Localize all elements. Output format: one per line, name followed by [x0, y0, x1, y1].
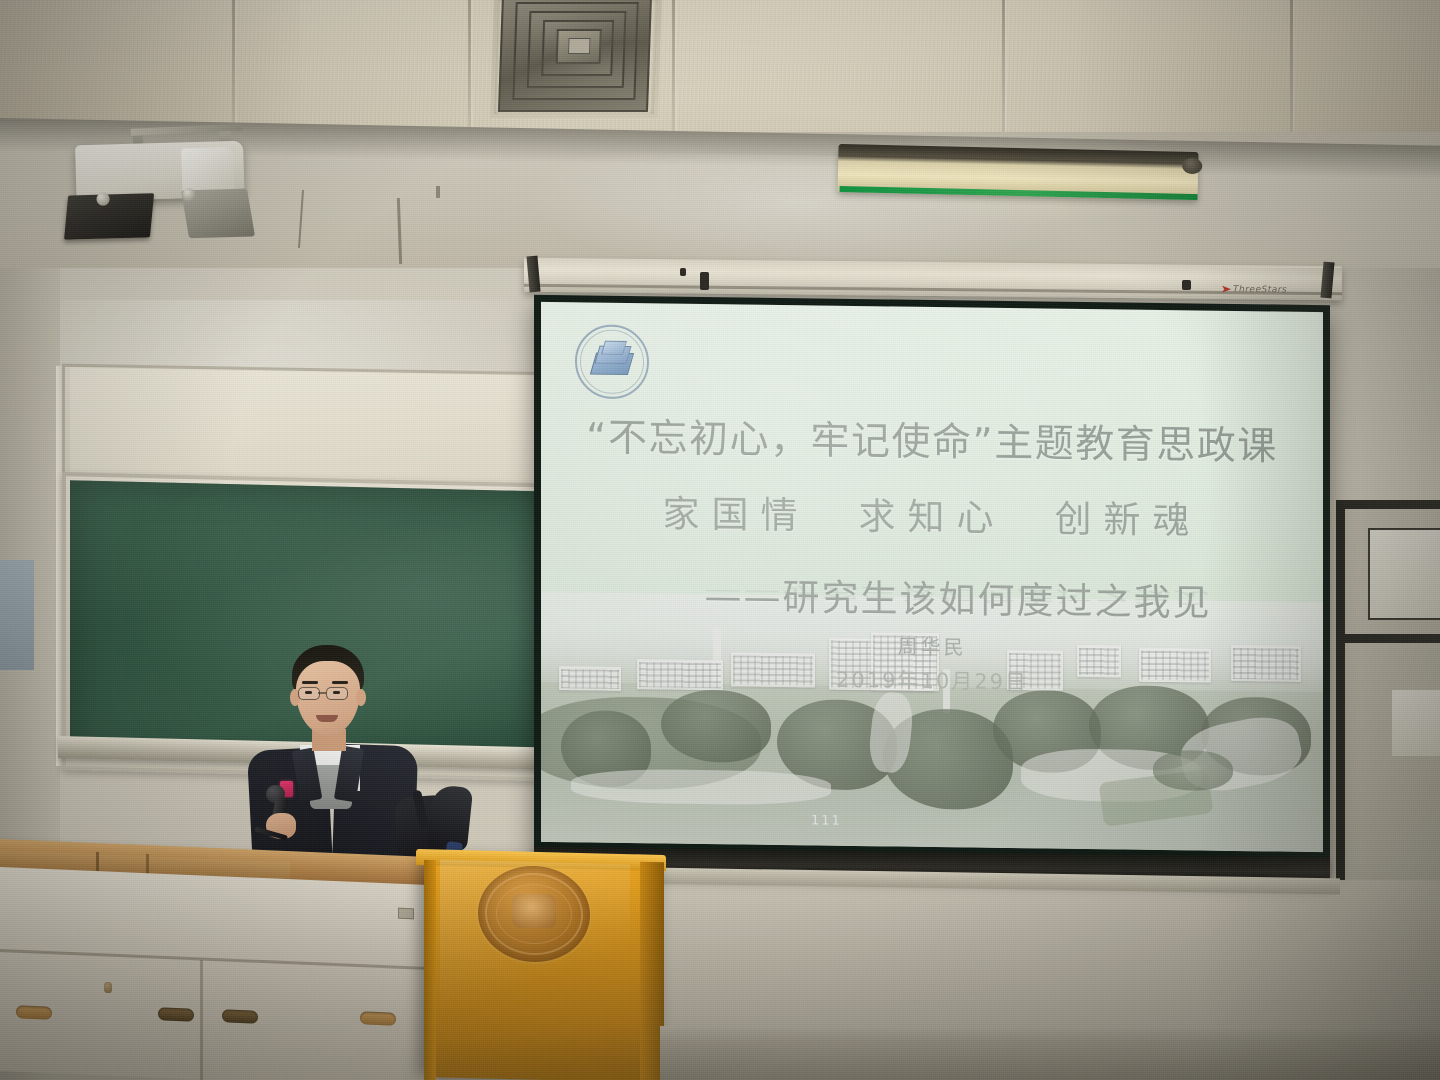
housing-hook [700, 272, 709, 290]
fluorescent-lamp-fixture [837, 142, 1198, 206]
housing-screw [680, 268, 686, 276]
ear-right [356, 689, 366, 706]
ceiling-shadow-right [1080, 0, 1440, 132]
eye-left [305, 691, 312, 694]
glasses-bridge-icon [318, 692, 326, 694]
eye-right [333, 691, 340, 694]
upper-wall-panel [70, 368, 552, 486]
hvac-diffuser-vent-icon [498, 0, 652, 112]
eyebrow-right [332, 681, 348, 684]
eyebrow-left [302, 681, 318, 684]
ceiling-seam [1002, 0, 1005, 132]
ceiling-seam [468, 0, 471, 132]
ceiling-seam [672, 0, 675, 132]
room-shadow-bottom [0, 860, 1440, 1080]
wall-fitting [436, 186, 440, 198]
housing-hook [1182, 280, 1191, 290]
mouth [316, 715, 338, 722]
slide-page-marker: 111 [811, 813, 842, 828]
ceiling [0, 0, 1440, 132]
classroom-photo: ThreeStars [0, 0, 1440, 1080]
left-wall-panel [0, 560, 34, 670]
ceiling-shadow-left [0, 0, 300, 132]
ceiling-projector-icon [69, 137, 251, 220]
